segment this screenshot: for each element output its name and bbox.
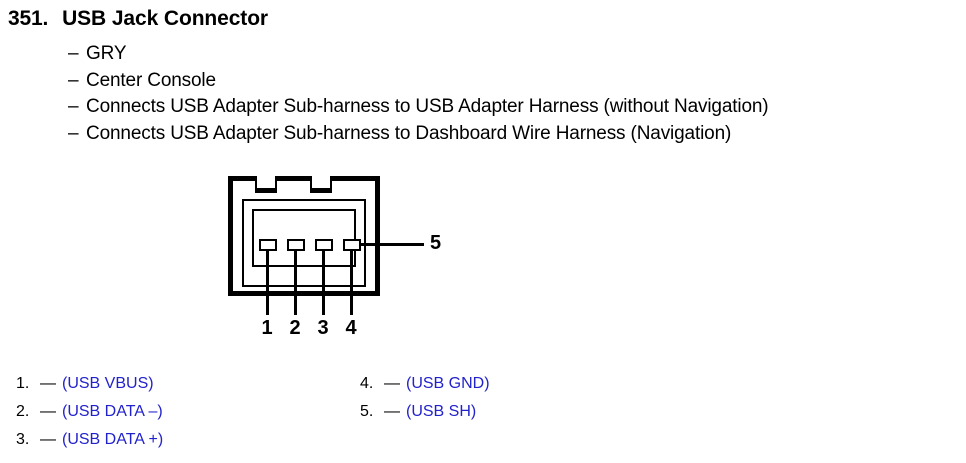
leader-line-pin-5	[356, 243, 424, 246]
em-dash-icon: —	[384, 398, 406, 426]
connector-shell-left-edge	[228, 176, 233, 296]
connector-notch-wall	[310, 176, 312, 190]
legend-row: 1. — (USB VBUS)	[16, 370, 163, 398]
pin-number-label-1: 1	[257, 317, 277, 340]
em-dash-icon: —	[40, 426, 62, 454]
item-title: USB Jack Connector	[62, 7, 268, 31]
list-item: – GRY	[68, 41, 768, 68]
legend-row: 4. — (USB GND)	[360, 370, 490, 398]
list-item: – Connects USB Adapter Sub-harness to US…	[68, 94, 768, 121]
legend-row: 3. — (USB DATA +)	[16, 426, 163, 454]
leader-line-pin-2	[294, 251, 297, 315]
connector-description-list: – GRY – Center Console – Connects USB Ad…	[68, 41, 768, 147]
list-item: – Center Console	[68, 68, 768, 95]
leader-line-pin-1	[266, 251, 269, 315]
list-item-label: Center Console	[86, 68, 216, 95]
connector-notch-base	[310, 188, 332, 193]
dash-bullet-icon: –	[68, 68, 86, 95]
pin-contact-2	[287, 239, 305, 251]
list-item-label: GRY	[86, 41, 126, 68]
list-item: – Connects USB Adapter Sub-harness to Da…	[68, 121, 768, 148]
connector-notch-wall	[275, 176, 277, 190]
leader-line-pin-4	[350, 251, 353, 315]
page-title: 351. USB Jack Connector	[8, 7, 268, 31]
pin-number-label-3: 3	[313, 317, 333, 340]
pin-number-label-2: 2	[285, 317, 305, 340]
connector-notch-base	[255, 188, 277, 193]
legend-signal-name: (USB DATA +)	[62, 426, 163, 454]
legend-pin-number: 2.	[16, 398, 40, 426]
list-item-label: Connects USB Adapter Sub-harness to USB …	[86, 94, 768, 121]
connector-shell-right-edge	[375, 176, 380, 296]
pin-contact-4	[343, 239, 361, 251]
legend-pin-number: 3.	[16, 426, 40, 454]
dash-bullet-icon: –	[68, 94, 86, 121]
legend-pin-number: 5.	[360, 398, 384, 426]
list-item-label: Connects USB Adapter Sub-harness to Dash…	[86, 121, 731, 148]
connector-shell-bottom-edge	[228, 291, 380, 296]
legend-row: 5. — (USB SH)	[360, 398, 490, 426]
pin-number-label-5: 5	[430, 232, 441, 255]
legend-signal-name: (USB DATA –)	[62, 398, 163, 426]
legend-column-left: 1. — (USB VBUS) 2. — (USB DATA –) 3. — (…	[16, 370, 163, 454]
pin-contact-3	[315, 239, 333, 251]
legend-row: 2. — (USB DATA –)	[16, 398, 163, 426]
connector-diagram: 5 1 2 3 4	[228, 176, 380, 296]
connector-shell-top-edge-segment	[332, 176, 380, 181]
legend-column-right: 4. — (USB GND) 5. — (USB SH)	[360, 370, 490, 426]
em-dash-icon: —	[384, 370, 406, 398]
pin-number-label-4: 4	[341, 317, 361, 340]
legend-signal-name: (USB GND)	[406, 370, 490, 398]
item-number: 351.	[8, 7, 48, 31]
dash-bullet-icon: –	[68, 41, 86, 68]
legend-pin-number: 1.	[16, 370, 40, 398]
connector-shell-top-edge-segment	[277, 176, 310, 181]
leader-line-pin-3	[322, 251, 325, 315]
connector-shell-top-edge-segment	[228, 176, 255, 181]
connector-notch-wall	[255, 176, 257, 190]
connector-notch-wall	[330, 176, 332, 190]
pin-contact-1	[259, 239, 277, 251]
em-dash-icon: —	[40, 398, 62, 426]
dash-bullet-icon: –	[68, 121, 86, 148]
em-dash-icon: —	[40, 370, 62, 398]
legend-pin-number: 4.	[360, 370, 384, 398]
legend-signal-name: (USB VBUS)	[62, 370, 154, 398]
legend-signal-name: (USB SH)	[406, 398, 476, 426]
